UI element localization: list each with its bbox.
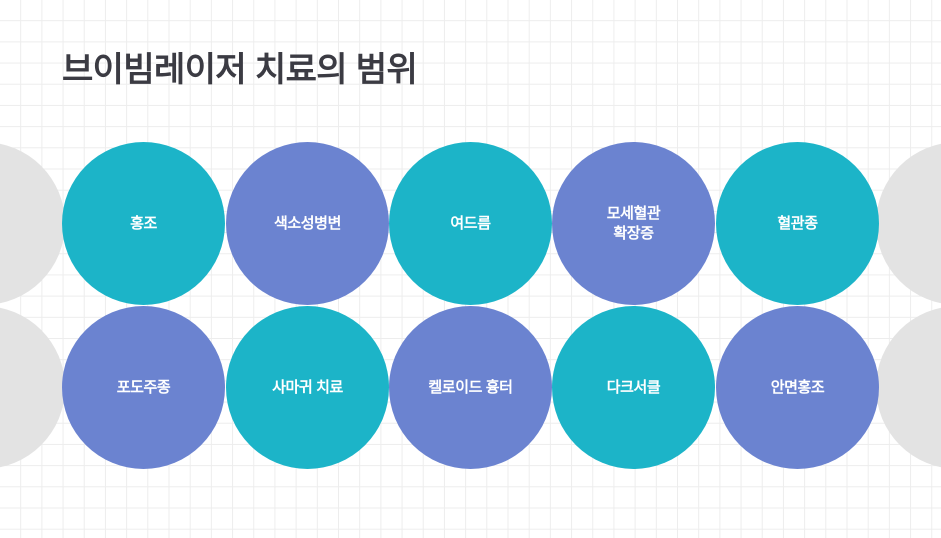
- treatment-bubble-label: 홍조: [124, 214, 163, 234]
- treatment-bubble[interactable]: 포도주종: [62, 306, 225, 469]
- treatment-bubble-label: 포도주종: [111, 378, 177, 398]
- treatment-bubble[interactable]: 사마귀 치료: [226, 306, 389, 469]
- page-title: 브이빔레이저 치료의 범위: [62, 48, 417, 92]
- treatment-bubble-label: 안면홍조: [765, 378, 831, 398]
- deco-circle-right-bottom: [876, 306, 941, 469]
- treatment-bubble[interactable]: 색소성병변: [226, 142, 389, 305]
- treatment-bubble-label: 모세혈관 확장증: [601, 204, 667, 244]
- treatment-bubble[interactable]: 안면홍조: [716, 306, 879, 469]
- treatment-bubble[interactable]: 여드름: [389, 142, 552, 305]
- treatment-bubble-label: 다크서클: [601, 378, 667, 398]
- treatment-bubble[interactable]: 홍조: [62, 142, 225, 305]
- deco-circle-right-top: [876, 142, 941, 305]
- treatment-scope-bubble-grid: 홍조 색소성병변 여드름 모세혈관 확장증 혈관종 포도주종 사마귀 치료 켈로…: [62, 142, 879, 469]
- treatment-bubble-label: 켈로이드 흉터: [422, 378, 518, 398]
- treatment-bubble-label: 혈관종: [771, 214, 823, 234]
- treatment-bubble-label: 색소성병변: [268, 214, 347, 234]
- treatment-bubble[interactable]: 모세혈관 확장증: [552, 142, 715, 305]
- treatment-bubble[interactable]: 혈관종: [716, 142, 879, 305]
- treatment-bubble[interactable]: 다크서클: [552, 306, 715, 469]
- treatment-bubble-label: 사마귀 치료: [266, 378, 349, 398]
- treatment-bubble[interactable]: 켈로이드 흉터: [389, 306, 552, 469]
- treatment-bubble-label: 여드름: [444, 214, 496, 234]
- slide-canvas: 브이빔레이저 치료의 범위 홍조 색소성병변 여드름 모세혈관 확장증 혈관종 …: [0, 0, 941, 538]
- deco-circle-left-top: [0, 142, 65, 305]
- deco-circle-left-bottom: [0, 306, 65, 469]
